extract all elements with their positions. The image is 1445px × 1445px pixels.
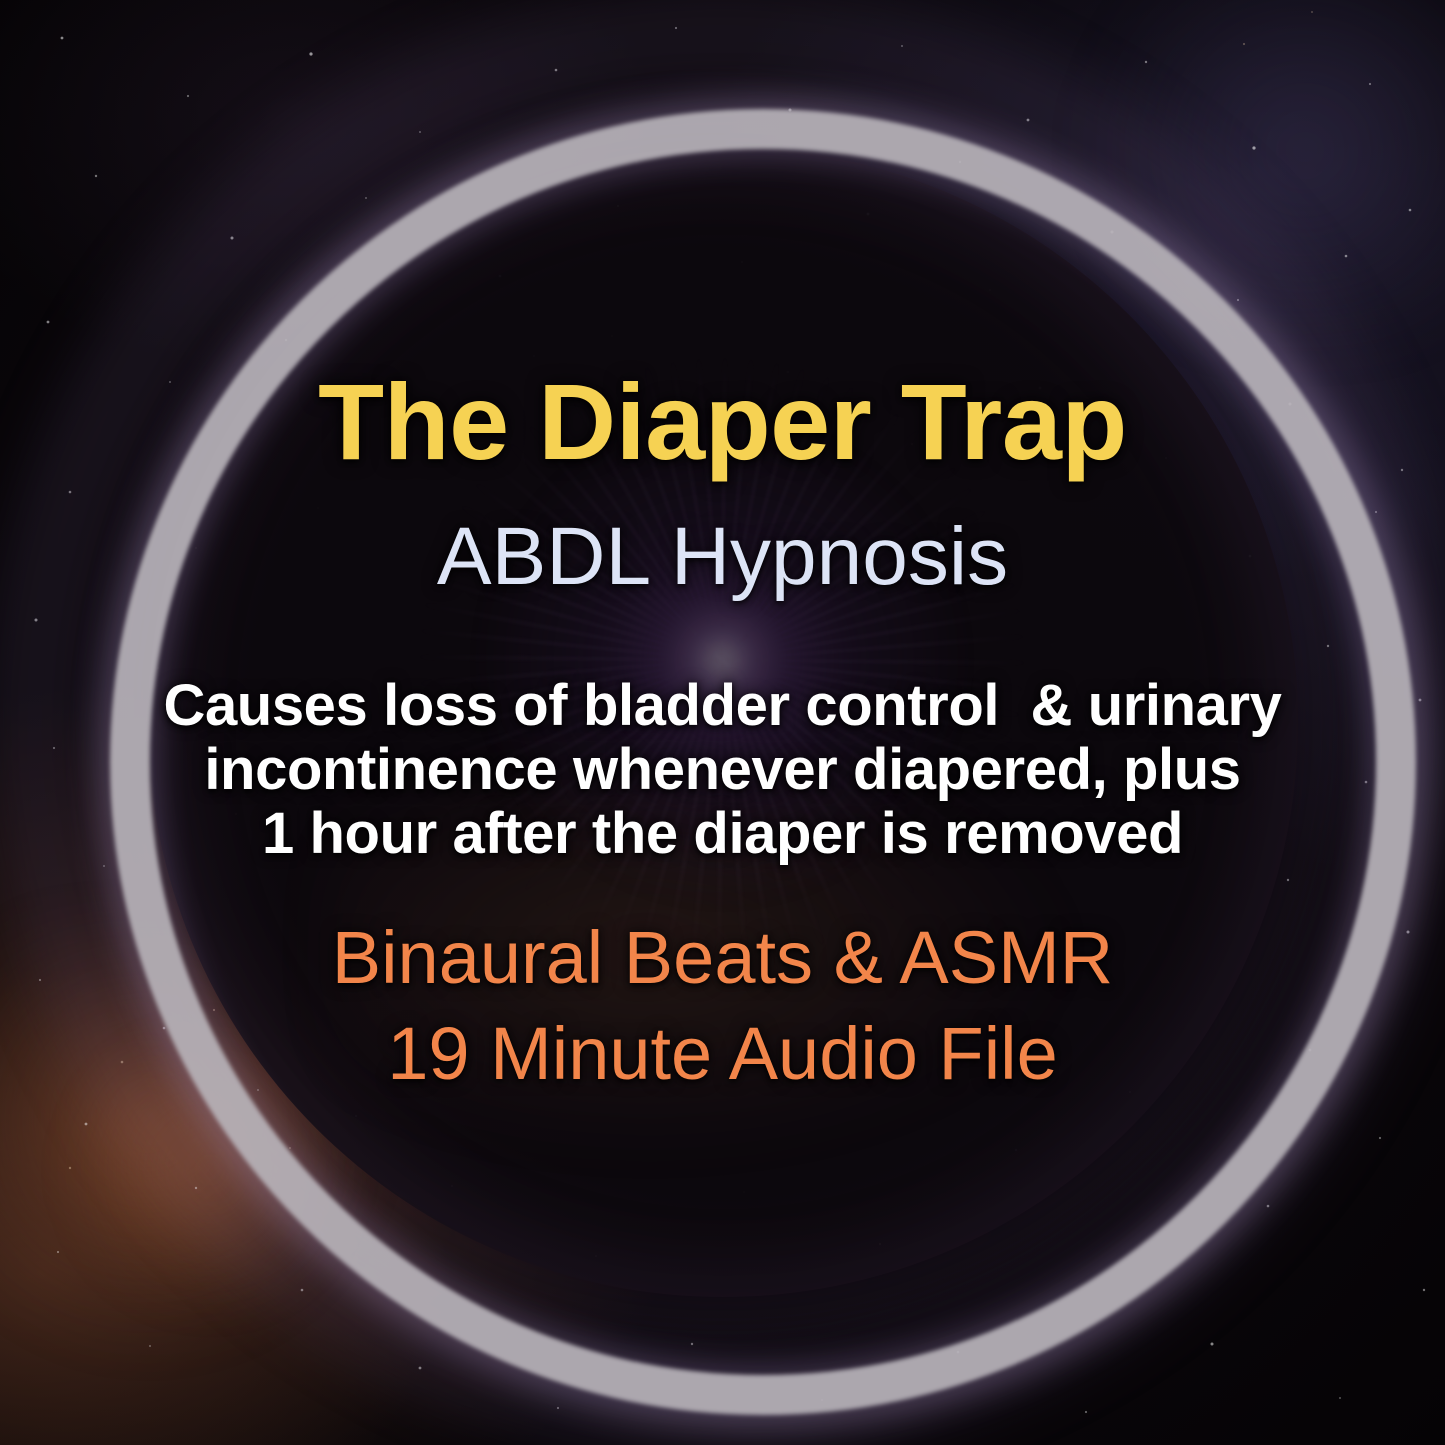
- poster-content: The Diaper Trap ABDL Hypnosis Causes los…: [0, 0, 1445, 1445]
- page-title: The Diaper Trap: [0, 368, 1445, 476]
- description-line-3: 1 hour after the diaper is removed: [110, 802, 1335, 866]
- poster-canvas: The Diaper Trap ABDL Hypnosis Causes los…: [0, 0, 1445, 1445]
- footer-line-format: Binaural Beats & ASMR: [0, 910, 1445, 1006]
- description-line-2: incontinence whenever diapered, plus: [110, 738, 1335, 802]
- description-block: Causes loss of bladder control & urinary…: [110, 674, 1335, 865]
- footer-line-duration: 19 Minute Audio File: [0, 1006, 1445, 1102]
- page-subtitle: ABDL Hypnosis: [0, 516, 1445, 598]
- description-line-1: Causes loss of bladder control & urinary: [110, 674, 1335, 738]
- footer-block: Binaural Beats & ASMR 19 Minute Audio Fi…: [0, 910, 1445, 1102]
